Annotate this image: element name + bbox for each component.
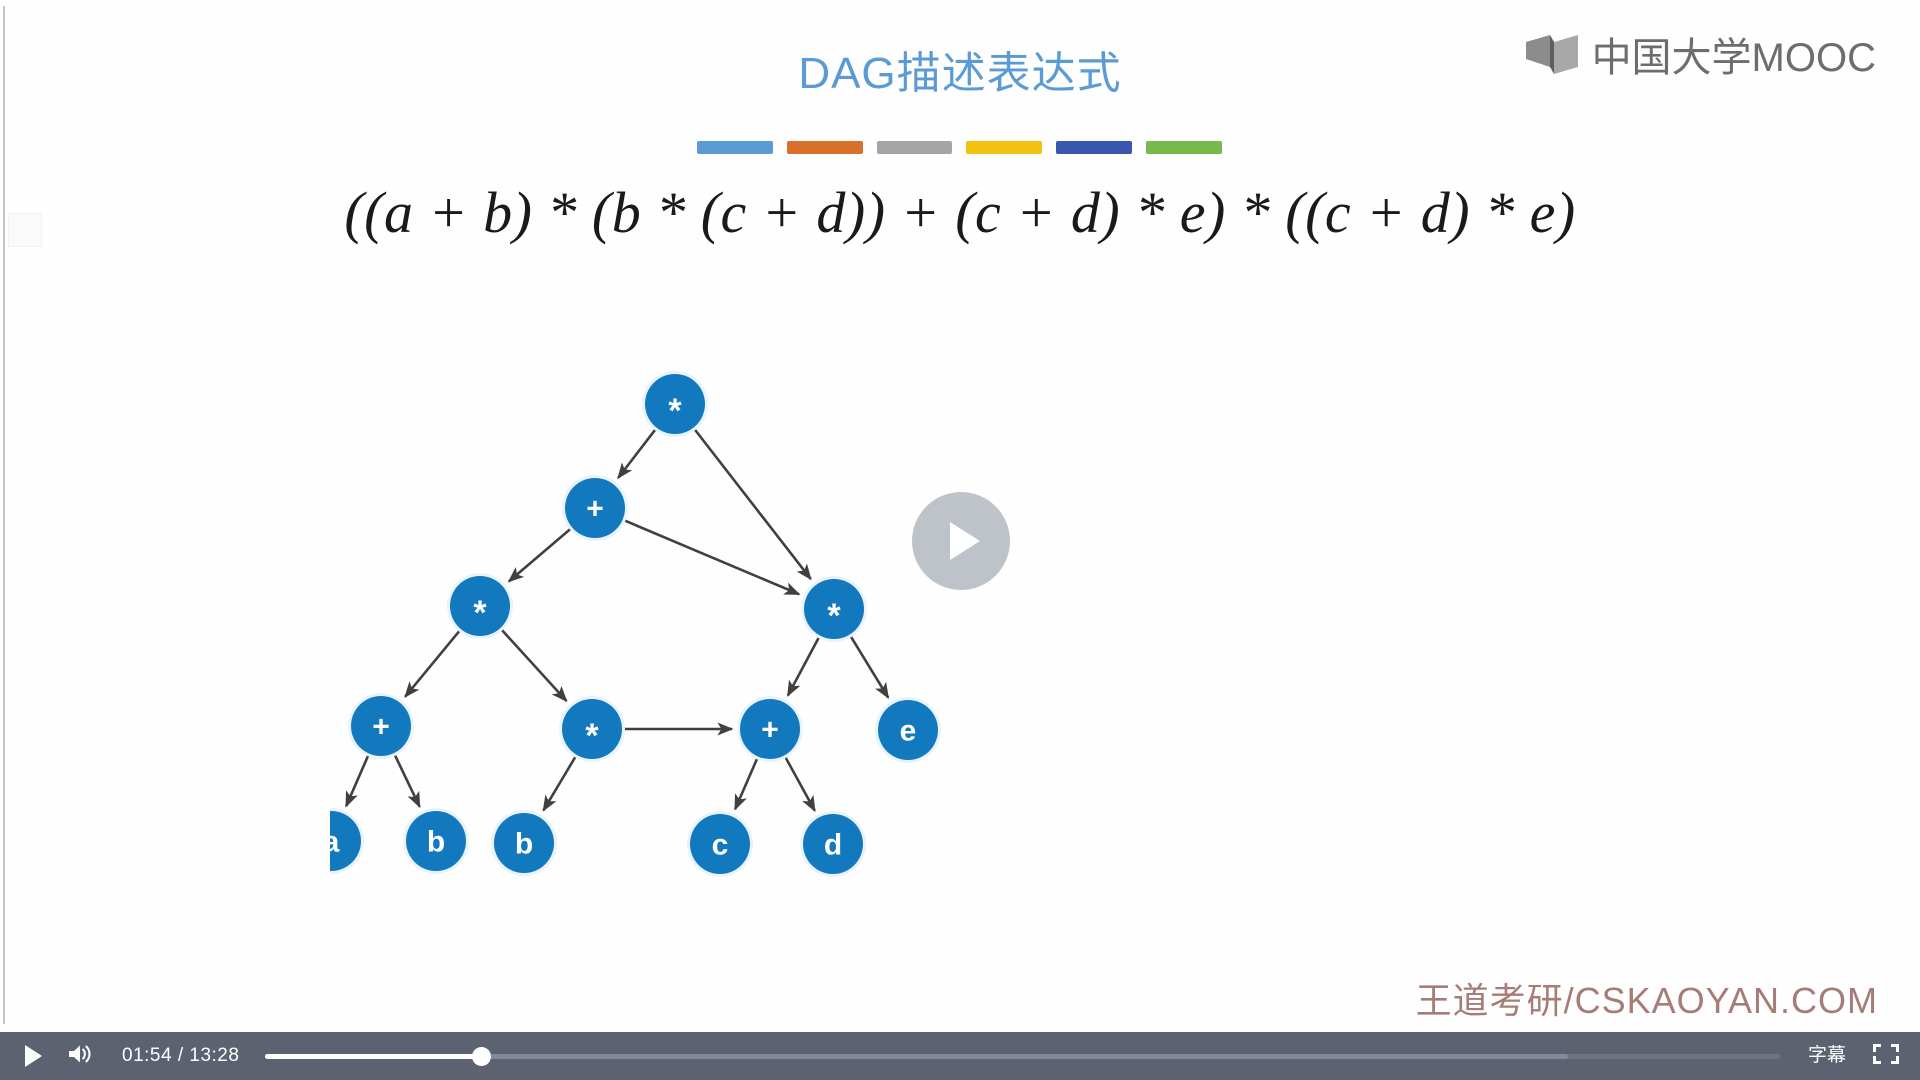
graph-node-e: e [875, 697, 941, 763]
graph-node-star: * [642, 371, 708, 437]
graph-edge [394, 754, 419, 807]
bar-blue [697, 141, 773, 154]
node-label: * [473, 594, 487, 632]
logo-text: 中国大学MOOC [1592, 36, 1876, 80]
time-display: 01:54 / 13:28 [122, 1044, 239, 1068]
graph-edge [735, 757, 757, 809]
graph-node-c: c [687, 811, 753, 877]
bar-gray [877, 141, 953, 154]
graph-node-plus: + [562, 475, 628, 541]
node-label: e [900, 715, 917, 748]
graph-edge [501, 629, 567, 701]
book-flag-icon [1524, 33, 1582, 82]
node-label: * [668, 392, 682, 430]
exit-fullscreen-icon [1873, 1041, 1899, 1072]
node-label: c [712, 829, 729, 862]
volume-button[interactable] [56, 1032, 104, 1080]
graph-edge [543, 756, 576, 811]
play-overlay-button[interactable] [912, 492, 1010, 590]
left-edge-rule [3, 6, 5, 1024]
node-label: b [427, 826, 445, 859]
graph-edge [850, 635, 888, 697]
watermark-text: 王道考研/CSKAOYAN.COM [1416, 980, 1878, 1022]
progress-played [265, 1054, 480, 1059]
expression-text: ((a + b) * (b * (c + d)) + (c + d) * e) … [0, 178, 1920, 248]
subtitle-button[interactable]: 字幕 [1796, 1044, 1858, 1068]
play-overlay-icon [950, 522, 980, 560]
mooc-logo: 中国大学MOOC [1524, 33, 1876, 82]
bar-yellow [966, 141, 1042, 154]
player-control-bar: 01:54 / 13:28 字幕 [0, 1032, 1920, 1080]
exit-fullscreen-button[interactable] [1858, 1032, 1914, 1080]
graph-node-plus: + [737, 696, 803, 762]
node-label: * [585, 717, 599, 755]
bar-navy [1056, 141, 1132, 154]
graph-node-b: b [491, 810, 557, 876]
progress-handle[interactable] [472, 1047, 491, 1066]
graph-edge [618, 429, 656, 478]
color-bar-strip [697, 141, 1222, 155]
node-label: + [586, 493, 604, 526]
node-label: d [824, 829, 842, 862]
graph-node-plus: + [348, 693, 414, 759]
graph-edge [405, 630, 460, 697]
play-icon [25, 1045, 42, 1067]
bar-orange [787, 141, 863, 154]
node-label: + [372, 711, 390, 744]
graph-edge [346, 754, 368, 806]
graph-edge [788, 636, 820, 695]
node-label: a [330, 826, 340, 859]
play-button[interactable] [8, 1032, 56, 1080]
node-label: + [761, 714, 779, 747]
graph-node-a: a [330, 808, 364, 874]
node-label: b [515, 828, 533, 861]
video-player-page: DAG描述表达式 ((a + b) * (b * (c + d)) + (c +… [0, 0, 1920, 1080]
graph-node-d: d [800, 811, 866, 877]
graph-edge [785, 756, 815, 810]
volume-icon [67, 1042, 93, 1071]
bar-green [1146, 141, 1222, 154]
graph-node-star: * [801, 576, 867, 642]
graph-node-star: * [559, 696, 625, 762]
node-label: * [827, 597, 841, 635]
graph-edge [509, 528, 571, 581]
graph-node-b: b [403, 808, 469, 874]
graph-node-star: * [447, 573, 513, 639]
dag-graph: *+**+*+eabbcd [330, 360, 1130, 920]
graph-node-layer: *+**+*+eabbcd [330, 371, 941, 877]
slide-canvas: DAG描述表达式 ((a + b) * (b * (c + d)) + (c +… [0, 0, 1920, 1032]
progress-bar[interactable] [265, 1032, 1780, 1080]
